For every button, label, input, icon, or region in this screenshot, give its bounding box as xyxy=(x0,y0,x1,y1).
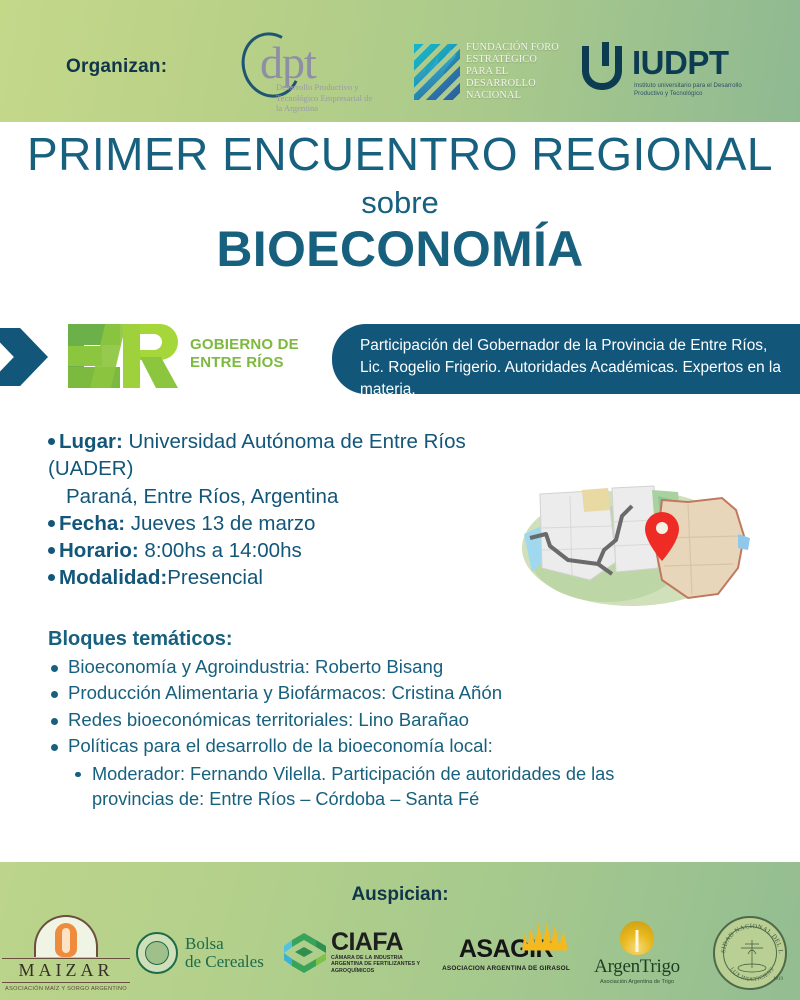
detail-continuation: Paraná, Entre Ríos, Argentina xyxy=(48,483,518,510)
fundacion-foro-logo: FUNDACIÓN FORO ESTRATÉGICO PARA EL DESAR… xyxy=(414,42,564,104)
iudpt-logo: IUDPT Instituto universitario para el De… xyxy=(582,42,752,102)
gobierno-entre-rios-label: GOBIERNO DE ENTRE RÍOS xyxy=(190,336,299,371)
event-details-list: Lugar: Universidad Autónoma de Entre Río… xyxy=(48,428,518,592)
block-item: Redes bioeconómicas territoriales: Lino … xyxy=(48,707,628,733)
gobierno-line-1: GOBIERNO DE xyxy=(190,336,299,354)
detail-item-modalidad: Modalidad:Presencial xyxy=(48,564,518,591)
poster-title-block: PRIMER ENCUENTRO REGIONAL sobre BIOECONO… xyxy=(0,130,800,277)
svg-text:UNIVERSIDAD NACIONAL DEL LITOR: UNIVERSIDAD NACIONAL DEL LITORAL xyxy=(715,918,784,954)
svg-text:LUX INDEFICIENS: LUX INDEFICIENS xyxy=(728,967,775,984)
unl-motto: LUX INDEFICIENS xyxy=(728,967,775,984)
title-line-1: PRIMER ENCUENTRO REGIONAL xyxy=(0,130,800,178)
detail-value: Jueves 13 de marzo xyxy=(125,512,315,535)
arrows-icon xyxy=(414,44,460,100)
wheat-icon xyxy=(620,921,654,955)
detail-key: Modalidad: xyxy=(59,566,167,589)
bolsa-seal-icon xyxy=(136,932,178,974)
sponsor-universidad-nacional-del-litoral: UNIVERSIDAD NACIONAL DEL LITORAL LUX IND… xyxy=(702,916,798,990)
detail-item-lugar: Lugar: Universidad Autónoma de Entre Río… xyxy=(48,428,518,510)
dpt-subtitle: Desarrollo Productivo y Tecnológico Empr… xyxy=(276,82,376,114)
sponsor-maizar: MAIZAR ASOCIACIÓN MAÍZ Y SORGO ARGENTINO xyxy=(2,915,130,992)
sponsors-row: MAIZAR ASOCIACIÓN MAÍZ Y SORGO ARGENTINO… xyxy=(0,908,800,998)
blocks-sublist: Moderador: Fernando Vilella. Participaci… xyxy=(48,762,628,812)
corn-cob-icon xyxy=(34,915,98,957)
bolsa-wordmark: Bolsa de Cereales xyxy=(185,935,264,972)
ciafa-subtitle: CÁMARA DE LA INDUSTRIA ARGENTINA DE FERT… xyxy=(331,955,434,976)
sponsor-ciafa: CIAFA CÁMARA DE LA INDUSTRIA ARGENTINA D… xyxy=(282,931,434,975)
unl-seal-icon: UNIVERSIDAD NACIONAL DEL LITORAL LUX IND… xyxy=(713,916,787,990)
organizan-label: Organizan: xyxy=(66,56,167,78)
gobierno-line-2: ENTRE RÍOS xyxy=(190,354,299,372)
detail-key: Horario: xyxy=(59,539,139,562)
bolsa-line-2: de Cereales xyxy=(185,953,264,971)
unl-ring-text: UNIVERSIDAD NACIONAL DEL LITORAL xyxy=(715,918,784,954)
iudpt-subtitle: Instituto universitario para el Desarrol… xyxy=(634,82,752,98)
dpt-logo: dpt Desarrollo Productivo y Tecnológico … xyxy=(240,28,370,114)
unl-year: 1919 xyxy=(773,977,784,982)
block-item: Políticas para el desarrollo de la bioec… xyxy=(48,733,628,759)
bullet-icon xyxy=(48,574,55,581)
detail-item-fecha: Fecha: Jueves 13 de marzo xyxy=(48,510,518,537)
thematic-blocks-section: Bloques temáticos: Bioeconomía y Agroind… xyxy=(48,628,628,812)
map-graphic xyxy=(512,476,780,616)
detail-item-horario: Horario: 8:00hs a 14:00hs xyxy=(48,537,518,564)
title-line-3: BIOECONOMÍA xyxy=(0,222,800,277)
entre-rios-logo-icon xyxy=(68,324,178,388)
block-item: Bioeconomía y Agroindustria: Roberto Bis… xyxy=(48,654,628,680)
block-sub-item: Moderador: Fernando Vilella. Participaci… xyxy=(72,762,628,812)
dpt-wordmark: dpt xyxy=(260,40,316,86)
maizar-wordmark: MAIZAR xyxy=(2,958,130,983)
chevron-arrow-icon xyxy=(0,328,48,386)
argentrigo-wordmark: ArgenTrigo xyxy=(578,956,696,978)
detail-key: Fecha: xyxy=(59,512,125,535)
bullet-icon xyxy=(48,438,55,445)
block-item: Producción Alimentaria y Biofármacos: Cr… xyxy=(48,680,628,706)
maizar-subtitle: ASOCIACIÓN MAÍZ Y SORGO ARGENTINO xyxy=(2,986,130,992)
detail-value: 8:00hs a 14:00hs xyxy=(139,539,302,562)
ciafa-hexagon-icon xyxy=(282,931,326,975)
detail-key: Lugar: xyxy=(59,430,123,453)
asagir-subtitle: ASOCIACION ARGENTINA DE GIRASOL xyxy=(440,965,572,972)
argentrigo-subtitle: Asociación Argentina de Trigo xyxy=(578,979,696,985)
fundacion-foro-text: FUNDACIÓN FORO ESTRATÉGICO PARA EL DESAR… xyxy=(466,42,566,102)
sponsor-asagir: ASAGIR ASOCIACION ARGENTINA DE GIRASOL xyxy=(440,935,572,972)
unl-seal-graphic: UNIVERSIDAD NACIONAL DEL LITORAL LUX IND… xyxy=(715,918,789,992)
blocks-title: Bloques temáticos: xyxy=(48,628,628,651)
iudpt-wordmark: IUDPT xyxy=(632,46,729,79)
bullet-icon xyxy=(48,547,55,554)
event-poster: Organizan: dpt Desarrollo Productivo y T… xyxy=(0,0,800,1000)
bullet-icon xyxy=(48,520,55,527)
blocks-list: Bioeconomía y Agroindustria: Roberto Bis… xyxy=(48,654,628,760)
iudpt-u-icon xyxy=(582,46,622,90)
location-map xyxy=(512,476,780,616)
ciafa-text: CIAFA CÁMARA DE LA INDUSTRIA ARGENTINA D… xyxy=(331,931,434,975)
ciafa-wordmark: CIAFA xyxy=(331,931,434,955)
bolsa-line-1: Bolsa xyxy=(185,935,264,953)
entre-rios-banner: GOBIERNO DE ENTRE RÍOS Participación del… xyxy=(0,314,800,400)
organizers-band: Organizan: dpt Desarrollo Productivo y T… xyxy=(0,0,800,122)
sponsor-bolsa-de-cereales: Bolsa de Cereales xyxy=(136,932,276,974)
auspician-label: Auspician: xyxy=(0,884,800,906)
governor-participation-callout: Participación del Gobernador de la Provi… xyxy=(332,324,800,394)
title-line-2: sobre xyxy=(0,186,800,220)
detail-value: Presencial xyxy=(167,566,263,589)
sponsor-argentrigo: ArgenTrigo Asociación Argentina de Trigo xyxy=(578,921,696,985)
